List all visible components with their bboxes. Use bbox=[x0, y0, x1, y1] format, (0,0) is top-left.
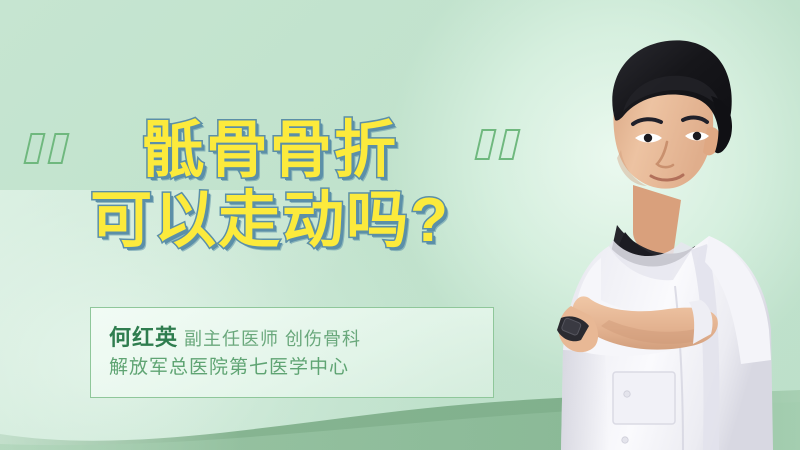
doctor-credential-panel: 何红英副主任医师创伤骨科 解放军总医院第七医学中心 bbox=[90, 307, 494, 398]
doctor-portrait bbox=[505, 0, 800, 450]
headline-line-1: 骶骨骨折 bbox=[0, 120, 540, 182]
doctor-department: 创伤骨科 bbox=[285, 329, 361, 349]
doctor-name: 何红英 bbox=[109, 325, 178, 350]
video-thumbnail: 骶骨骨折 可以走动吗? 何红英副主任医师创伤骨科 解放军总医院第七医学中心 bbox=[0, 0, 800, 450]
headline-line-2: 可以走动吗? bbox=[0, 190, 540, 252]
credential-line-primary: 何红英副主任医师创伤骨科 bbox=[109, 322, 493, 354]
doctor-role: 副主任医师 bbox=[184, 329, 279, 349]
doctor-hospital: 解放军总医院第七医学中心 bbox=[109, 357, 349, 378]
headline: 骶骨骨折 可以走动吗? bbox=[0, 120, 540, 252]
credential-line-secondary: 解放军总医院第七医学中心 bbox=[109, 354, 493, 382]
